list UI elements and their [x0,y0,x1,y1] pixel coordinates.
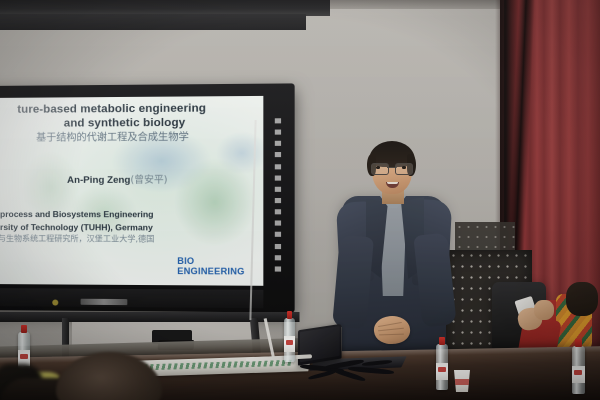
slide-affiliation-chinese: 生物过程与生物系统工程研究所，汉堡工业大学,德国 [0,233,255,246]
presentation-screen[interactable]: ture-based metabolic engineering and syn… [0,96,263,286]
bezel-button[interactable] [275,255,281,260]
cable-tangle [300,360,410,382]
attendee-head [566,282,598,316]
slide-title-chinese: 基于结构的代谢工程及合成生物学 [0,131,255,145]
slide-affiliation: te of Bioprocess and Biosystems Engineer… [0,208,255,245]
water-bottle [284,318,295,362]
cable [362,359,392,366]
bezel-button[interactable] [275,187,281,192]
display-brand-plate [81,299,128,305]
speaker-eye-left [376,166,380,169]
slide-title-line-2: and synthetic biology [0,116,255,131]
lecture-photograph: ture-based metabolic engineering and syn… [0,0,600,400]
bottle-cap [439,337,445,345]
bezel-button[interactable] [275,244,281,249]
bottle-label [436,363,448,380]
water-bottle [572,346,585,394]
cable [308,370,336,381]
wall-dark-band [0,14,306,30]
bottle-cap [287,311,293,319]
bezel-button[interactable] [275,198,281,203]
water-bottle [436,344,448,390]
bezel-button[interactable] [275,266,281,271]
slide-author-name: An-Ping Zeng [67,175,130,186]
bottle-cap [21,325,27,333]
bottle-label [284,336,295,352]
bio-engineering-logo: BIO ENGINEERING [177,257,244,277]
bezel-button[interactable] [275,164,281,169]
logo-line-2: ENGINEERING [177,267,244,277]
bezel-button[interactable] [275,221,281,226]
slide-affiliation-line-2: rg University of Technology (TUHH), Germ… [0,221,255,234]
slide-author: An-Ping Zeng(曾安平) [0,172,255,187]
bezel-button[interactable] [275,130,281,135]
bezel-button[interactable] [275,152,281,157]
slide-content: ture-based metabolic engineering and syn… [0,96,263,286]
bottle-label [572,366,585,383]
slide-affiliation-line-1: te of Bioprocess and Biosystems Engineer… [0,208,255,221]
bezel-button[interactable] [275,141,281,146]
bezel-button-strip[interactable] [275,118,282,271]
glasses-lens-left [371,163,389,175]
bottle-cap [575,339,582,347]
bezel-bottom [0,288,263,308]
speaker-eye-right [402,166,406,169]
bezel-button[interactable] [275,209,281,214]
attendee-hand-right [534,300,554,320]
slide-author-chinese: (曾安平) [130,175,167,186]
bezel-button[interactable] [275,118,281,123]
glasses-lens-right [395,163,413,175]
bezel-button[interactable] [275,175,281,180]
ir-sensor-icon [52,300,58,306]
bezel-button[interactable] [275,232,281,237]
